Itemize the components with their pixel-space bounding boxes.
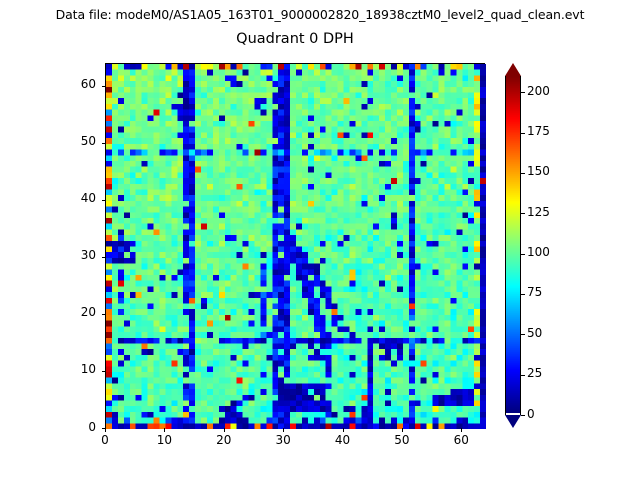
colorbar [505,63,521,428]
x-tick-mark [402,428,403,432]
x-tick-label: 60 [441,433,481,447]
colorbar-tick-label: 0 [527,407,535,421]
x-tick-mark [461,428,462,432]
x-tick-mark [164,428,165,432]
y-tick-mark [102,371,106,372]
colorbar-tick-label: 200 [527,84,550,98]
y-tick-mark [102,428,106,429]
colorbar-extend-high-arrow [505,63,521,76]
colorbar-tick-mark [521,415,525,416]
colorbar-tick-mark [521,133,525,134]
colorbar-tick-label: 125 [527,205,550,219]
y-tick-mark [102,200,106,201]
y-tick-mark [102,143,106,144]
x-tick-label: 10 [144,433,184,447]
x-tick-mark [283,428,284,432]
x-tick-mark [343,428,344,432]
colorbar-tick-mark [521,294,525,295]
colorbar-tick-mark [521,334,525,335]
colorbar-canvas [506,76,520,413]
heatmap-image [106,64,486,429]
colorbar-tick-mark [521,173,525,174]
colorbar-tick-label: 50 [527,326,542,340]
x-tick-label: 40 [323,433,363,447]
x-tick-label: 20 [204,433,244,447]
x-tick-mark [105,428,106,432]
colorbar-tick-mark [521,254,525,255]
y-tick-label: 0 [52,420,96,434]
x-tick-label: 50 [382,433,422,447]
x-tick-mark [224,428,225,432]
colorbar-tick-label: 75 [527,285,542,299]
x-tick-label: 30 [263,433,303,447]
colorbar-tick-label: 175 [527,124,550,138]
y-tick-label: 30 [52,248,96,262]
colorbar-tick-label: 25 [527,366,542,380]
heatmap-axes [105,63,485,428]
colorbar-tick-label: 100 [527,245,550,259]
colorbar-tick-mark [521,375,525,376]
colorbar-tick-label: 150 [527,164,550,178]
y-tick-label: 10 [52,362,96,376]
y-tick-mark [102,314,106,315]
matplotlib-figure: Data file: modeM0/AS1A05_163T01_90000028… [0,0,640,480]
colorbar-gradient [505,76,521,415]
y-tick-mark [102,86,106,87]
page-title: Quadrant 0 DPH [105,31,485,47]
colorbar-tick-mark [521,92,525,93]
colorbar-tick-mark [521,213,525,214]
x-tick-label: 0 [85,433,125,447]
y-tick-label: 50 [52,134,96,148]
data-file-label: Data file: modeM0/AS1A05_163T01_90000028… [0,7,640,22]
y-tick-label: 20 [52,305,96,319]
y-tick-label: 60 [52,77,96,91]
colorbar-extend-low-arrow [505,415,521,428]
y-tick-label: 40 [52,191,96,205]
y-tick-mark [102,257,106,258]
